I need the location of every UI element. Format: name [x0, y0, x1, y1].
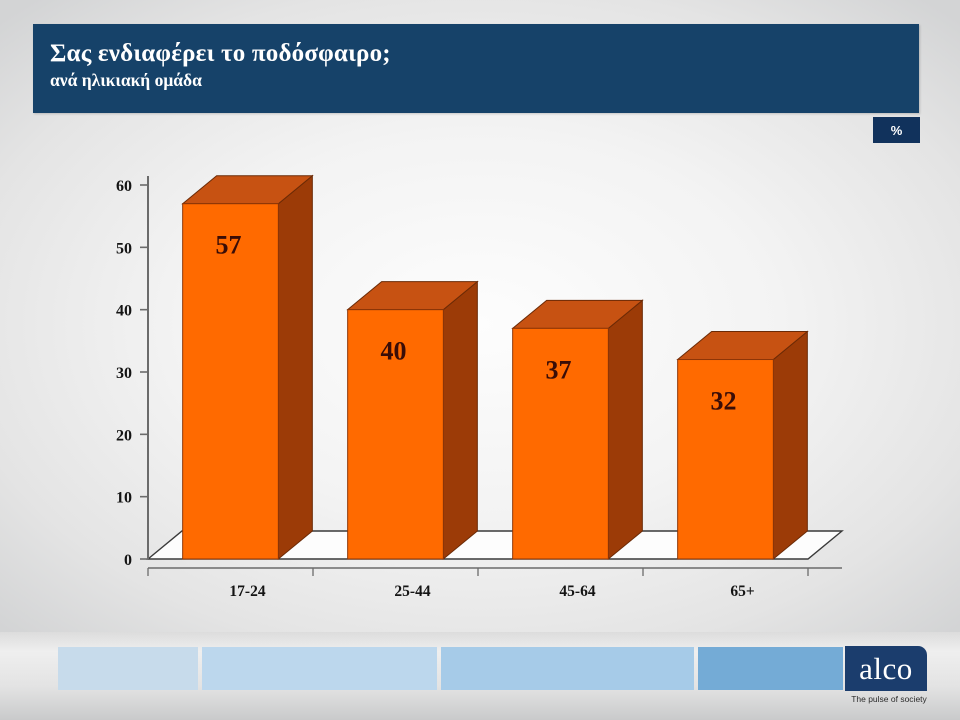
bar-data-label: 40 [381, 337, 407, 366]
x-axis-label: 25-44 [394, 583, 430, 600]
footer-band [0, 632, 960, 720]
logo-wordmark: alco [859, 653, 913, 684]
bar-column [513, 300, 643, 559]
chart-svg: 01020304050605740373217-2425-4445-6465+ [0, 0, 960, 640]
bar-data-label: 37 [546, 355, 572, 384]
y-axis-label: 10 [116, 490, 132, 507]
footer-bar-4 [698, 647, 843, 690]
y-axis-label: 30 [116, 365, 132, 382]
footer-bar-3 [441, 647, 694, 690]
y-axis-label: 60 [116, 178, 132, 195]
y-axis-label: 40 [116, 303, 132, 320]
bar-column [348, 282, 478, 559]
logo-tagline: The pulse of society [845, 694, 933, 704]
y-axis-label: 20 [116, 427, 132, 444]
bar-side-face [608, 300, 642, 559]
bar-data-label: 32 [711, 387, 737, 416]
bar-column [183, 176, 313, 559]
bar-side-face [278, 176, 312, 559]
bar-side-face [443, 282, 477, 559]
x-axis-label: 65+ [730, 583, 755, 600]
footer-bar-1 [58, 647, 198, 690]
y-axis-label: 50 [116, 240, 132, 257]
bar-data-label: 57 [216, 231, 242, 260]
x-axis-label: 17-24 [229, 583, 265, 600]
bar-side-face [773, 332, 807, 559]
slide-canvas: Σας ενδιαφέρει το ποδόσφαιρο; ανά ηλικια… [0, 0, 960, 720]
bar-column [678, 332, 808, 559]
alco-logo: alco [845, 646, 927, 691]
y-axis-label: 0 [124, 552, 132, 569]
footer-bar-2 [202, 647, 437, 690]
bar-chart: 01020304050605740373217-2425-4445-6465+ [0, 0, 960, 640]
x-axis-label: 45-64 [559, 583, 595, 600]
